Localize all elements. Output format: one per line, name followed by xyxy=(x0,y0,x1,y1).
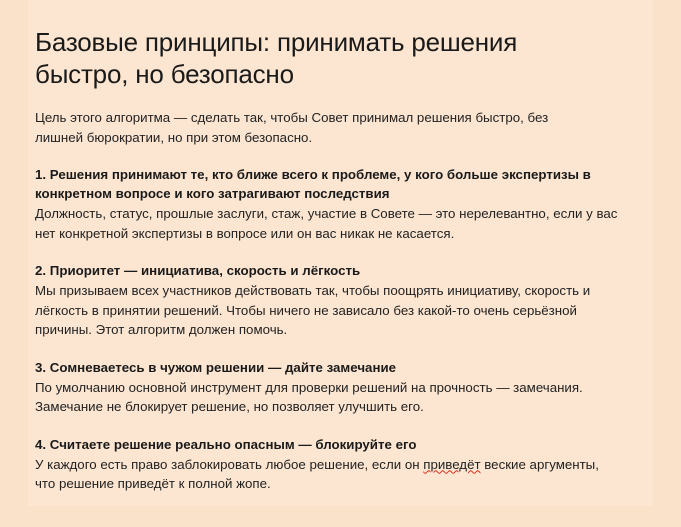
section-3-body: По умолчанию основной инструмент для про… xyxy=(35,378,620,417)
section-1: 1. Решения принимают те, кто ближе всего… xyxy=(35,147,650,243)
spellcheck-misspelled-word[interactable]: приведёт xyxy=(423,457,480,472)
section-4-body: У каждого есть право заблокировать любое… xyxy=(35,455,620,494)
section-1-body: Должность, статус, прошлые заслуги, стаж… xyxy=(35,204,620,243)
document-page: Базовые принципы: принимать решения быст… xyxy=(0,0,681,527)
section-3-heading: 3. Сомневаетесь в чужом решении — дайте … xyxy=(35,358,615,377)
document-content: Базовые принципы: принимать решения быст… xyxy=(35,0,650,527)
section-4-body-text-before: У каждого есть право заблокировать любое… xyxy=(35,457,423,472)
intro-paragraph: Цель этого алгоритма — сделать так, чтоб… xyxy=(35,90,595,147)
section-2: 2. Приоритет — инициатива, скорость и лё… xyxy=(35,243,650,340)
page-title: Базовые принципы: принимать решения быст… xyxy=(35,0,595,90)
section-4: 4. Считаете решение реально опасным — бл… xyxy=(35,417,650,494)
section-4-heading: 4. Считаете решение реально опасным — бл… xyxy=(35,435,615,454)
section-1-heading: 1. Решения принимают те, кто ближе всего… xyxy=(35,165,615,203)
section-3: 3. Сомневаетесь в чужом решении — дайте … xyxy=(35,340,650,417)
section-2-heading: 2. Приоритет — инициатива, скорость и лё… xyxy=(35,261,615,280)
section-2-body: Мы призываем всех участников действовать… xyxy=(35,281,620,340)
